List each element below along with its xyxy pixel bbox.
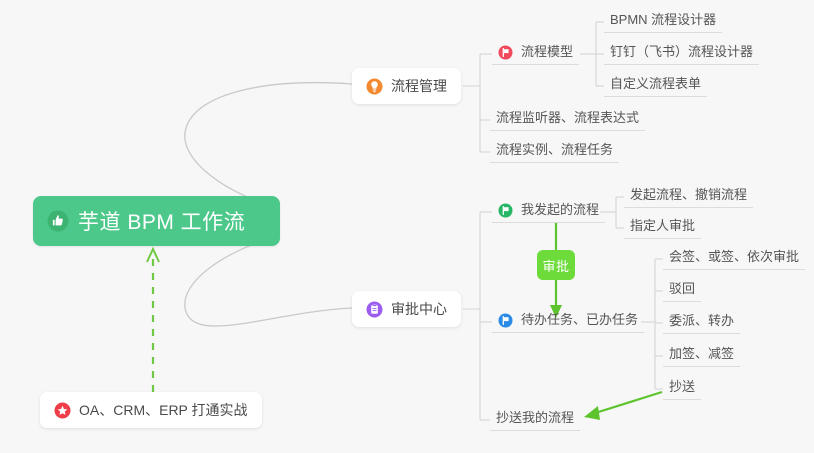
clipboard-icon — [366, 301, 383, 318]
leaf-label-listener-expression: 流程监听器、流程表达式 — [496, 110, 639, 126]
leaf-delegate-transfer[interactable]: 委派、转办 — [663, 313, 740, 334]
leaf-cc[interactable]: 抄送 — [663, 379, 701, 400]
root-node[interactable]: 芋道 BPM 工作流 — [33, 196, 280, 246]
leaf-label-bpmn-designer: BPMN 流程设计器 — [610, 12, 716, 28]
leaf-assignee-approval[interactable]: 指定人审批 — [624, 218, 701, 239]
leaf-label-start-cancel: 发起流程、撤销流程 — [630, 187, 747, 203]
leaf-countersign[interactable]: 会签、或签、依次审批 — [663, 249, 805, 270]
leaf-label-countersign: 会签、或签、依次审批 — [669, 249, 799, 265]
root-label: 芋道 BPM 工作流 — [78, 206, 245, 236]
lightbulb-icon — [366, 78, 383, 95]
leaf-label-cc: 抄送 — [669, 379, 695, 395]
leaf-listener-expression[interactable]: 流程监听器、流程表达式 — [490, 110, 645, 131]
thumbs-up-icon — [47, 210, 69, 232]
link-root-to-approval-center — [185, 236, 352, 326]
star-icon — [54, 402, 71, 419]
floating-node-oa-crm-erp[interactable]: OA、CRM、ERP 打通实战 — [40, 392, 262, 428]
flag-icon — [498, 45, 513, 60]
mindmap-canvas: 芋道 BPM 工作流 流程管理 审批中心 — [0, 0, 814, 453]
link-root-to-process-management — [185, 83, 352, 208]
branch-label-approval-center: 审批中心 — [391, 299, 447, 319]
branch-label-process-management: 流程管理 — [391, 76, 447, 96]
leaf-bpmn-designer[interactable]: BPMN 流程设计器 — [604, 12, 722, 33]
leaf-dingtalk-feishu-designer[interactable]: 钉钉（飞书）流程设计器 — [604, 44, 759, 65]
cc-link-arrow — [584, 392, 662, 420]
flag-icon — [498, 313, 513, 328]
leaf-my-initiated[interactable]: 我发起的流程 — [492, 202, 605, 223]
leaf-label-add-remove-sign: 加签、减签 — [669, 346, 734, 362]
leaf-cc-to-me[interactable]: 抄送我的流程 — [490, 410, 580, 431]
floating-label-oa-crm-erp: OA、CRM、ERP 打通实战 — [79, 400, 248, 420]
flag-icon — [498, 203, 513, 218]
leaf-label-instance-task: 流程实例、流程任务 — [496, 142, 613, 158]
leaf-label-delegate-transfer: 委派、转办 — [669, 313, 734, 329]
leaf-label-custom-process-form: 自定义流程表单 — [610, 76, 701, 92]
leaf-label-process-model: 流程模型 — [521, 44, 573, 60]
leaf-custom-process-form[interactable]: 自定义流程表单 — [604, 76, 707, 97]
leaf-reject[interactable]: 驳回 — [663, 281, 701, 302]
leaf-start-cancel[interactable]: 发起流程、撤销流程 — [624, 187, 753, 208]
branch-node-process-management[interactable]: 流程管理 — [352, 68, 461, 104]
leaf-label-cc-to-me: 抄送我的流程 — [496, 410, 574, 426]
leaf-instance-task[interactable]: 流程实例、流程任务 — [490, 142, 619, 163]
leaf-add-remove-sign[interactable]: 加签、减签 — [663, 346, 740, 367]
leaf-todo-done-tasks[interactable]: 待办任务、已办任务 — [492, 312, 644, 333]
leaf-label-reject: 驳回 — [669, 281, 695, 297]
integration-dashed-arrow — [147, 249, 159, 392]
leaf-label-assignee-approval: 指定人审批 — [630, 218, 695, 234]
approve-badge-label: 审批 — [542, 256, 569, 275]
approve-badge[interactable]: 审批 — [537, 250, 575, 280]
leaf-label-todo-done-tasks: 待办任务、已办任务 — [521, 312, 638, 328]
leaf-label-my-initiated: 我发起的流程 — [521, 202, 599, 218]
leaf-process-model[interactable]: 流程模型 — [492, 44, 579, 65]
leaf-label-dingtalk-feishu-designer: 钉钉（飞书）流程设计器 — [610, 44, 753, 60]
branch-node-approval-center[interactable]: 审批中心 — [352, 291, 461, 327]
